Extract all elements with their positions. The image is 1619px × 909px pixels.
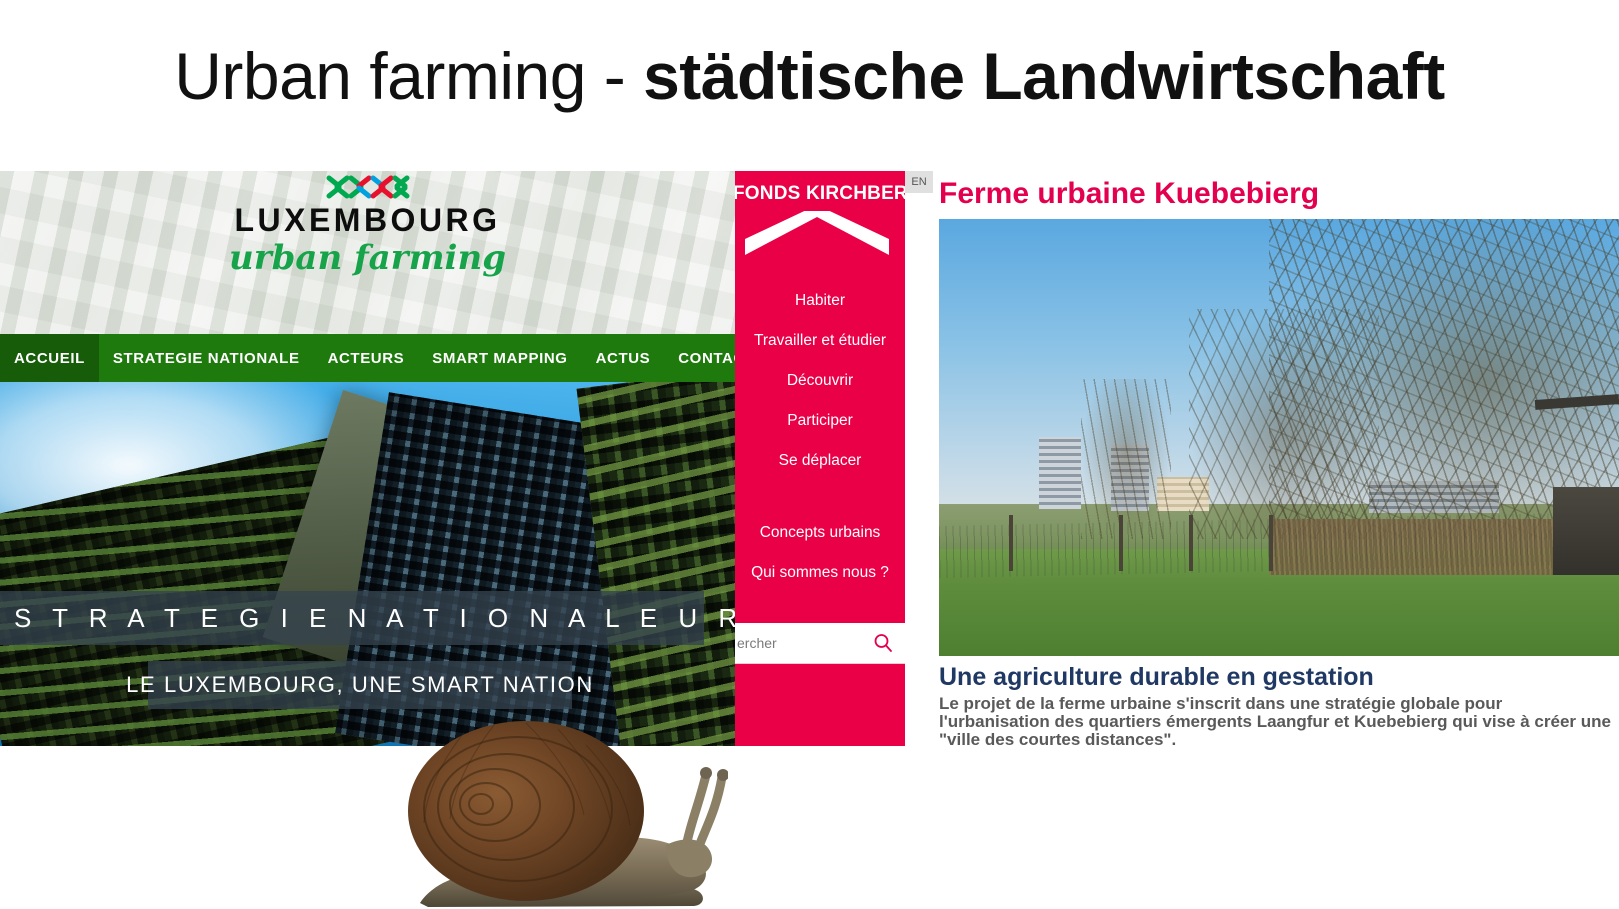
nav-item-actus[interactable]: ACTUS xyxy=(582,334,665,382)
page-title-part1: Urban farming - xyxy=(174,39,643,113)
article-photo xyxy=(939,219,1619,656)
language-switcher-en[interactable]: EN xyxy=(905,171,933,193)
hero-banner-primary-text: S T R A T E G I E N A T I O N A L E U R … xyxy=(0,603,735,634)
main-navigation: ACCUEIL STRATEGIE NATIONALE ACTEURS SMAR… xyxy=(0,334,735,382)
menu-item-concepts-urbains[interactable]: Concepts urbains xyxy=(735,513,905,553)
page-title: Urban farming - städtische Landwirtschaf… xyxy=(0,38,1619,114)
nav-item-contact[interactable]: CONTACT xyxy=(664,334,735,382)
menu-item-habiter[interactable]: Habiter xyxy=(735,281,905,321)
luxembourg-signature-x-mark xyxy=(326,175,410,199)
page-title-part2: städtische Landwirtschaft xyxy=(643,39,1445,113)
search-input[interactable]: ercher xyxy=(735,635,873,651)
nav-item-accueil[interactable]: ACCUEIL xyxy=(0,334,99,382)
menu-divider xyxy=(735,481,905,513)
photo-tree-small xyxy=(1081,379,1171,539)
article-page-title: Ferme urbaine Kuebebierg xyxy=(939,177,1319,211)
menu-item-se-deplacer[interactable]: Se déplacer xyxy=(735,441,905,481)
snail-eye-left xyxy=(700,767,712,779)
site-logo[interactable]: LUXEMBOURG urban farming xyxy=(0,175,735,279)
search-button[interactable] xyxy=(873,633,905,653)
kirchberg-sidebar: FONDS KIRCHBERG Habiter Travailler et ét… xyxy=(735,171,905,746)
kirchberg-logo[interactable]: FONDS KIRCHBERG xyxy=(735,183,903,255)
photo-fence-post xyxy=(1189,515,1193,571)
photo-fence-post xyxy=(1009,515,1013,571)
menu-item-travailler-et-etudier[interactable]: Travailler et étudier xyxy=(735,321,905,361)
logo-tagline: urban farming xyxy=(0,237,735,279)
snail-illustration xyxy=(398,715,728,909)
nav-item-strategie-nationale[interactable]: STRATEGIE NATIONALE xyxy=(99,334,314,382)
menu-item-qui-sommes-nous[interactable]: Qui sommes nous ? xyxy=(735,553,905,593)
menu-item-decouvrir[interactable]: Découvrir xyxy=(735,361,905,401)
hero-banner-secondary: LE LUXEMBOURG, UNE SMART NATION xyxy=(148,661,572,709)
nav-item-smart-mapping[interactable]: SMART MAPPING xyxy=(418,334,581,382)
hero-banner-secondary-text: LE LUXEMBOURG, UNE SMART NATION xyxy=(126,672,594,698)
logo-wordmark: LUXEMBOURG xyxy=(0,203,735,237)
kirchberg-menu: Habiter Travailler et étudier Découvrir … xyxy=(735,281,905,593)
photo-shed xyxy=(1553,487,1619,575)
hero-banner-primary: S T R A T E G I E N A T I O N A L E U R … xyxy=(0,591,704,645)
search-box[interactable]: ercher xyxy=(735,623,905,664)
photo-fence-post xyxy=(1269,515,1273,571)
screenshot-luxembourg-urban-farming: LUXEMBOURG urban farming ACCUEIL STRATEG… xyxy=(0,171,735,746)
photo-tower-a xyxy=(1039,437,1081,509)
nav-item-acteurs[interactable]: ACTEURS xyxy=(314,334,419,382)
article-body: Le projet de la ferme urbaine s'inscrit … xyxy=(939,695,1615,746)
search-icon xyxy=(873,633,893,653)
site-header: LUXEMBOURG urban farming xyxy=(0,171,735,334)
chevron-logo-icon xyxy=(735,211,903,255)
screenshot-fonds-kirchberg: FONDS KIRCHBERG Habiter Travailler et ét… xyxy=(735,171,1619,746)
photo-fence-post xyxy=(1119,515,1123,571)
kirchberg-wordmark: FONDS KIRCHBERG xyxy=(735,183,903,205)
menu-item-participer[interactable]: Participer xyxy=(735,401,905,441)
article-heading: Une agriculture durable en gestation xyxy=(939,663,1374,692)
